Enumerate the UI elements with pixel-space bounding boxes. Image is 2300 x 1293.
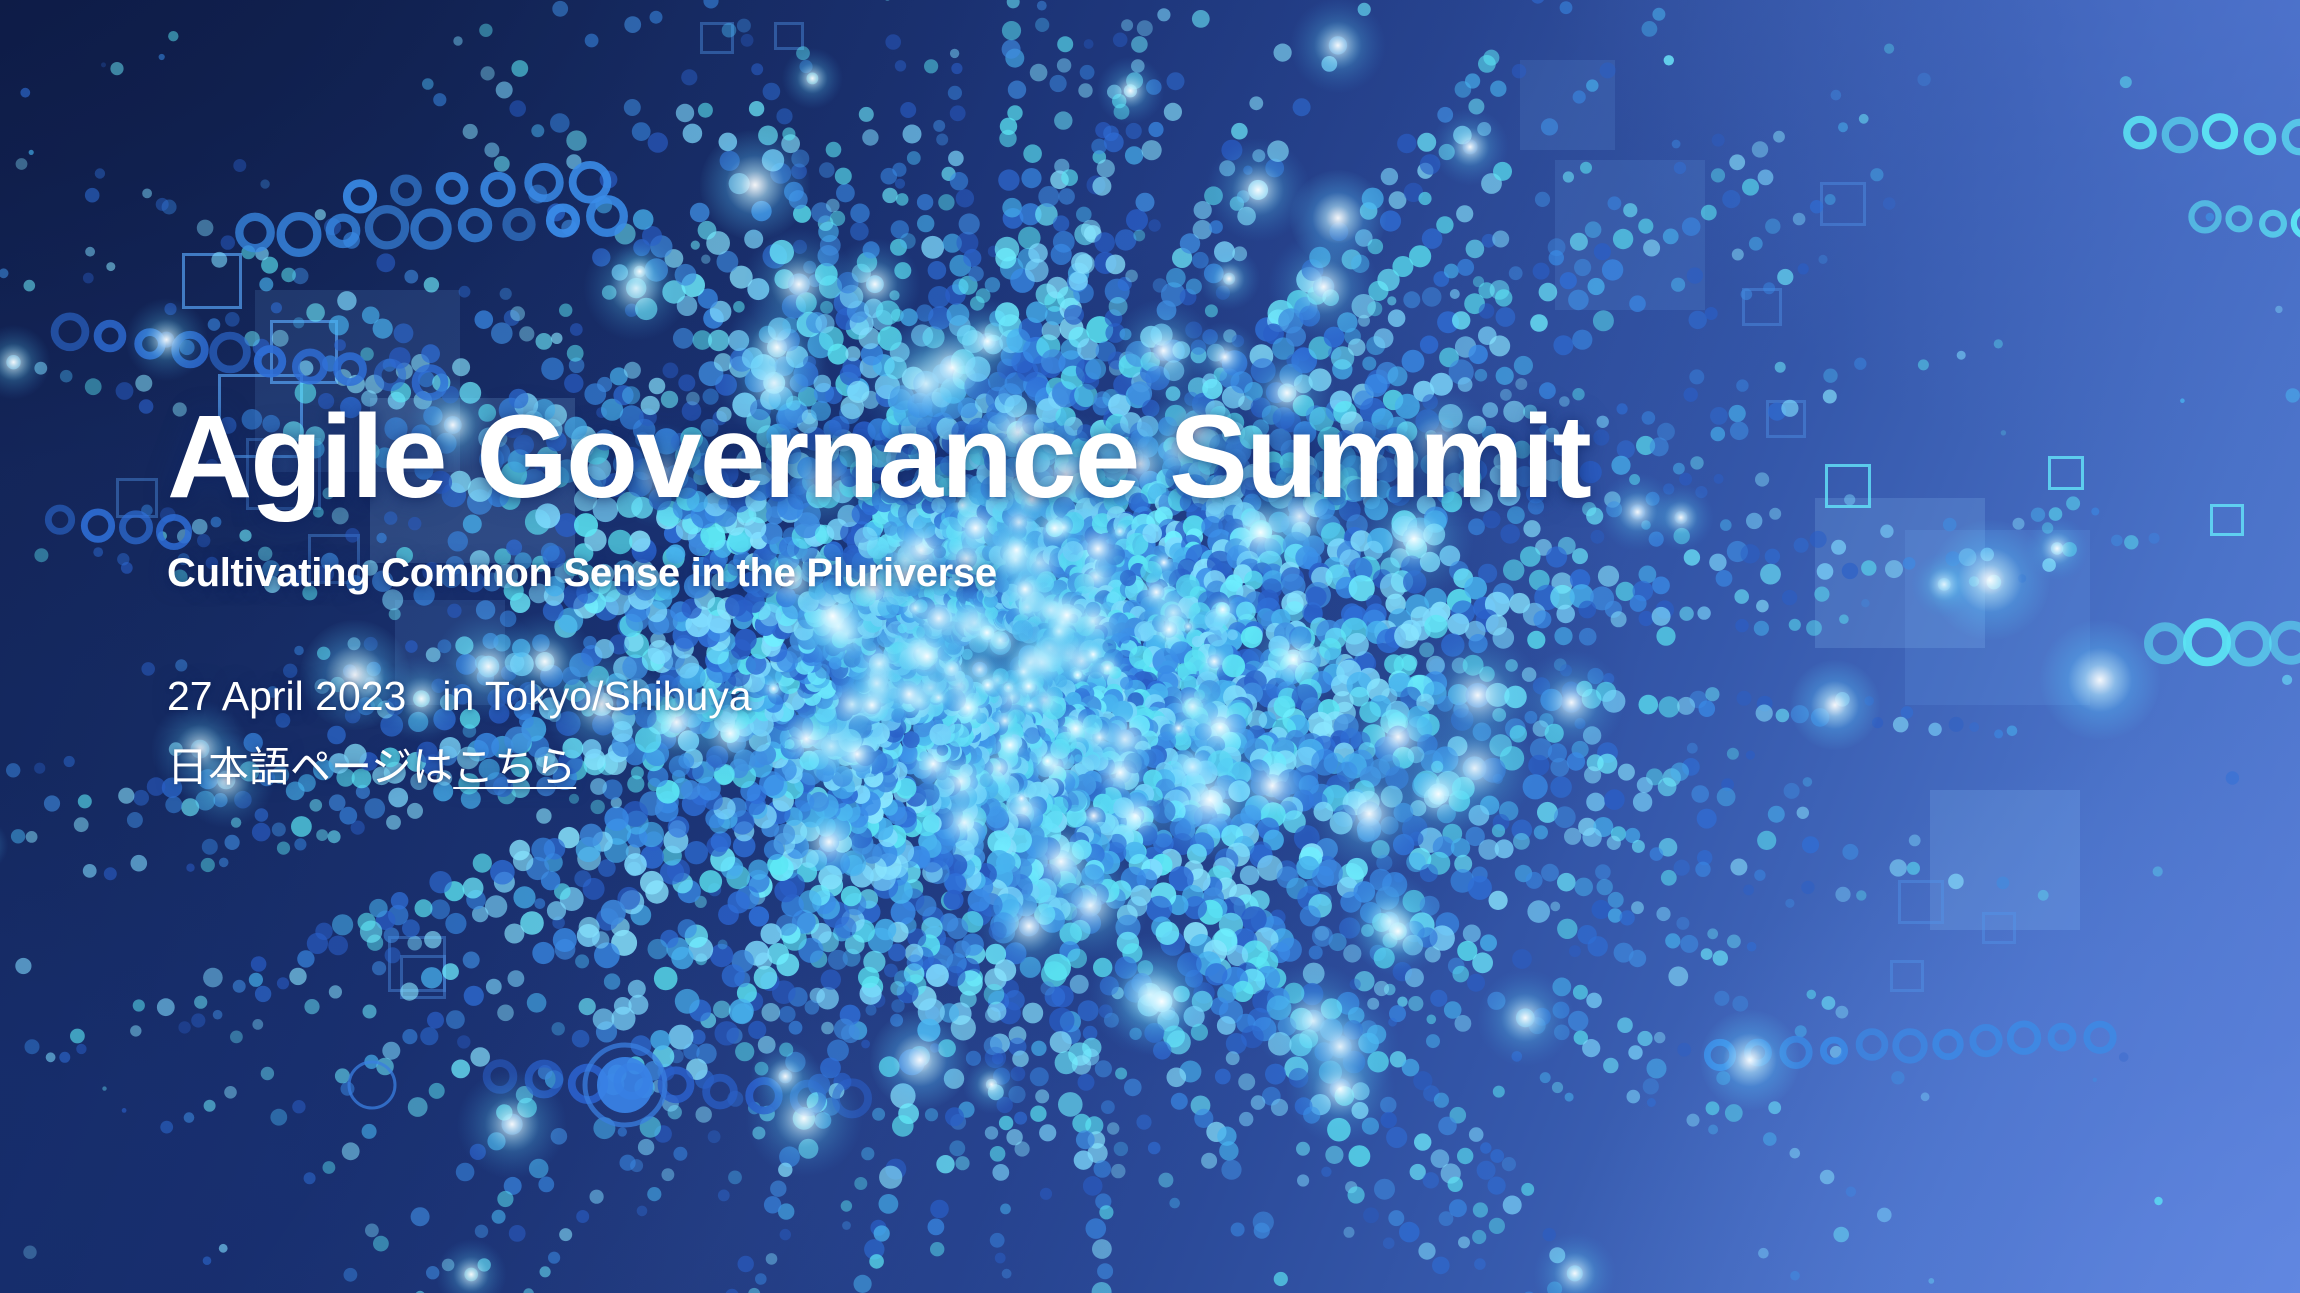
japanese-page-link[interactable]: こちら: [453, 744, 576, 790]
event-details: 27 April 2023in Tokyo/Shibuya: [167, 674, 1867, 719]
hero-content: Agile Governance Summit Cultivating Comm…: [167, 398, 1867, 790]
page-title: Agile Governance Summit: [167, 398, 1867, 516]
language-switch: 日本語ページはこちら: [167, 745, 1867, 790]
language-switch-prefix: 日本語ページは: [167, 744, 453, 790]
event-location: in Tokyo/Shibuya: [442, 673, 751, 719]
page-subtitle: Cultivating Common Sense in the Pluriver…: [167, 550, 1867, 596]
event-date: 27 April 2023: [167, 673, 406, 719]
hero-banner: Agile Governance Summit Cultivating Comm…: [0, 0, 2300, 1293]
